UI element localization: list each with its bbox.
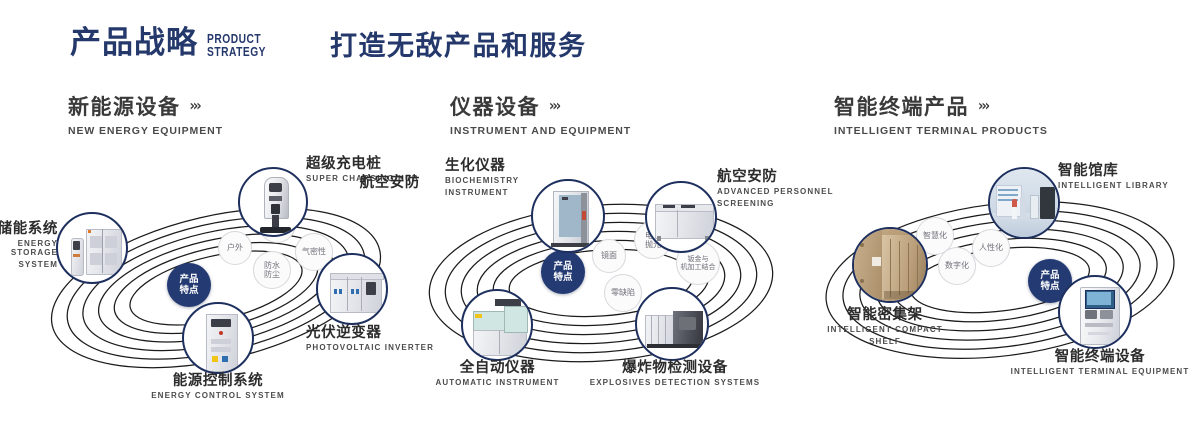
caption-cn: 储能系统: [0, 221, 58, 237]
feature-bubble-line1: 零缺陷: [611, 288, 635, 297]
core-bubble-line1: 产品: [179, 274, 198, 285]
pv-inverter-photo: [318, 255, 386, 323]
energy-storage-photo: [58, 214, 126, 282]
node-explosives-detection-systems[interactable]: [635, 287, 709, 361]
automatic-instrument-photo: [463, 291, 531, 359]
section-title-cn: 新能源设备 ›››: [68, 96, 223, 119]
intelligent-library-photo: [990, 169, 1058, 237]
brand-title-cn: 产品战略: [70, 28, 198, 59]
core-bubble-line2: 特点: [1040, 281, 1059, 292]
section-heading-intelligent-terminal: 智能终端产品 ››› INTELLIGENT TERMINAL PRODUCTS: [834, 96, 1048, 137]
screening-photo: [647, 183, 715, 251]
caption-en-line1: BIOCHEMISTRY: [445, 177, 565, 186]
chevron-right-icon: ›››: [190, 99, 200, 115]
feature-bubble-line2: 机加工结合: [681, 263, 716, 271]
feature-bubble-outdoor: 户外: [218, 231, 252, 265]
charging-hub-photo: [240, 169, 306, 235]
explosives-detection-photo: [637, 289, 707, 359]
node-intelligent-compact-shelf[interactable]: [852, 227, 928, 303]
caption-cn: 智能密集架: [800, 307, 970, 323]
caption-en-line1: ENERGY CONTROL SYSTEM: [132, 392, 304, 401]
feature-bubble-line1: 户外: [227, 243, 243, 252]
brand-title-en: PRODUCT STRATEGY: [207, 33, 266, 58]
brand-title-en-line1: PRODUCT: [207, 33, 266, 46]
section-title-cn: 仪器设备 ›››: [450, 96, 631, 119]
node-intelligent-terminal-equipment[interactable]: [1058, 275, 1132, 349]
section-title-text: 智能终端产品: [834, 96, 969, 119]
caption-en-line2: INSTRUMENT: [445, 189, 565, 198]
caption-cn: 航空安防: [345, 175, 420, 191]
section-title-text: 新能源设备: [68, 96, 181, 119]
poster-canvas: 产品战略 PRODUCT STRATEGY 打造无敌产品和服务 新能源设备 ››…: [0, 0, 1200, 422]
brand-title: 产品战略 PRODUCT STRATEGY: [70, 28, 279, 59]
feature-bubble-line1: 人性化: [979, 243, 1003, 252]
caption-en-line1: INTELLIGENT LIBRARY: [1058, 182, 1198, 191]
caption-energy-storage-system: 储能系统 ENERGY STORAGE SYSTEM: [0, 221, 58, 270]
energy-control-photo: [184, 304, 252, 372]
node-energy-storage-system[interactable]: [56, 212, 128, 284]
section-title-text: 仪器设备: [450, 96, 540, 119]
feature-bubble-waterproof: 防水 防尘: [253, 251, 291, 289]
diagram-new-energy: 产品 特点 户外 防腐 防锈 防水 防尘 气密性: [20, 155, 420, 405]
node-photovoltaic-inverter[interactable]: [316, 253, 388, 325]
core-bubble-line2: 特点: [553, 272, 572, 283]
caption-biochemistry-instrument: 生化仪器 BIOCHEMISTRY INSTRUMENT: [445, 158, 565, 198]
caption-intelligent-compact-shelf: 智能密集架 INTELLIGENT COMPACT SHELF: [800, 307, 970, 347]
compact-shelf-photo: [854, 229, 926, 301]
caption-automatic-instrument: 全自动仪器 AUTOMATIC INSTRUMENT: [410, 360, 585, 388]
diagram-instrument: 产品 特点 镜面 电解 抛光 钣金与 机加工结合 零缺陷: [405, 155, 805, 405]
node-super-charging-hub[interactable]: [238, 167, 308, 237]
node-energy-control-system[interactable]: [182, 302, 254, 374]
page-headline: 打造无敌产品和服务: [330, 32, 587, 62]
core-bubble-line1: 产品: [1040, 270, 1059, 281]
caption-en-line2: SHELF: [800, 338, 970, 347]
section-title-en: INSTRUMENT AND EQUIPMENT: [450, 125, 631, 137]
terminal-equipment-photo: [1060, 277, 1130, 347]
feature-bubble-line1: 防水: [264, 261, 280, 270]
caption-cn: 智能馆库: [1058, 163, 1198, 179]
caption-cn: 全自动仪器: [410, 360, 585, 376]
caption-en-line1: INTELLIGENT TERMINAL EQUIPMENT: [1005, 368, 1195, 377]
section-title-cn: 智能终端产品 ›››: [834, 96, 1048, 119]
caption-aviation-security: 航空安防: [345, 175, 420, 191]
feature-bubble-line1: 钣金与: [681, 255, 716, 263]
feature-bubble-line2: 防尘: [264, 270, 280, 279]
brand-title-en-line2: STRATEGY: [207, 46, 266, 59]
caption-en-line1: AUTOMATIC INSTRUMENT: [410, 379, 585, 388]
caption-en-line2: SYSTEM: [0, 261, 58, 270]
chevron-right-icon: ›››: [549, 99, 559, 115]
feature-bubble-line1: 数字化: [945, 261, 969, 270]
feature-bubble-line1: 镜面: [601, 251, 617, 260]
node-automatic-instrument[interactable]: [461, 289, 533, 361]
chevron-right-icon: ›››: [978, 99, 988, 115]
node-advanced-personnel-screening[interactable]: [645, 181, 717, 253]
caption-cn: 智能终端设备: [1005, 349, 1195, 365]
core-bubble-line1: 产品: [553, 261, 572, 272]
caption-en-line1: ENERGY STORAGE: [0, 240, 58, 258]
core-bubble-line2: 特点: [179, 285, 198, 296]
section-title-en: NEW ENERGY EQUIPMENT: [68, 125, 223, 137]
node-intelligent-library[interactable]: [988, 167, 1060, 239]
core-bubble-product-features: 产品 特点: [541, 250, 585, 294]
diagram-intelligent-terminal: 产品 特点 智慧化 数字化 人性化: [800, 155, 1200, 405]
feature-bubble-digital: 数字化: [938, 247, 976, 285]
caption-intelligent-terminal-equipment: 智能终端设备 INTELLIGENT TERMINAL EQUIPMENT: [1005, 349, 1195, 377]
caption-cn: 爆炸物检测设备: [575, 360, 775, 376]
section-heading-instrument: 仪器设备 ››› INSTRUMENT AND EQUIPMENT: [450, 96, 631, 137]
caption-explosives-detection-systems: 爆炸物检测设备 EXPLOSIVES DETECTION SYSTEMS: [575, 360, 775, 388]
section-title-en: INTELLIGENT TERMINAL PRODUCTS: [834, 125, 1048, 137]
section-heading-new-energy: 新能源设备 ››› NEW ENERGY EQUIPMENT: [68, 96, 223, 137]
core-bubble-product-features: 产品 特点: [167, 263, 211, 307]
caption-intelligent-library: 智能馆库 INTELLIGENT LIBRARY: [1058, 163, 1198, 191]
feature-bubble-line1: 智慧化: [923, 231, 947, 240]
caption-energy-control-system: 能源控制系统 ENERGY CONTROL SYSTEM: [132, 373, 304, 401]
caption-cn: 能源控制系统: [132, 373, 304, 389]
caption-en-line1: EXPLOSIVES DETECTION SYSTEMS: [575, 379, 775, 388]
caption-en-line1: INTELLIGENT COMPACT: [800, 326, 970, 335]
caption-cn: 生化仪器: [445, 158, 565, 174]
